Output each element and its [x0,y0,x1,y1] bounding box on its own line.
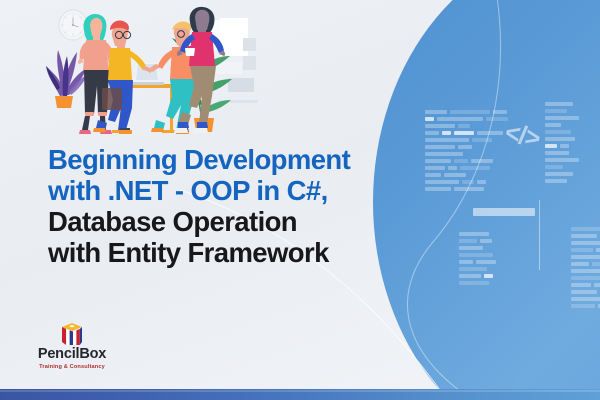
bottom-accent-bar [0,389,600,400]
decor-chip-1 [243,38,256,51]
code-column-c [571,227,600,311]
bottom-bar-highlight [0,390,600,392]
pencilbox-cube-logo-icon [59,322,85,346]
headline-line-1: Beginning Development [48,144,388,175]
headline-line-2: with .NET - OOP in C#, [48,175,388,206]
course-banner-slide: </> Beginning Development with .NET - OO… [0,0,600,400]
logo-tagline: Training & Consultancy [26,363,118,371]
code-divider-line [539,200,540,270]
headline-line-4: with Entity Framework [48,237,388,268]
headline-line-3: Database Operation [48,206,388,237]
page-title: Beginning Development with .NET - OOP in… [48,144,388,268]
logo-wordmark: PencilBox [26,347,118,362]
code-column-b [545,102,600,186]
team-collaboration-illustration [24,0,239,140]
brand-logo: PencilBox Training & Consultancy [26,322,118,371]
logo-mark [26,322,118,346]
decor-chip-2 [243,56,256,70]
